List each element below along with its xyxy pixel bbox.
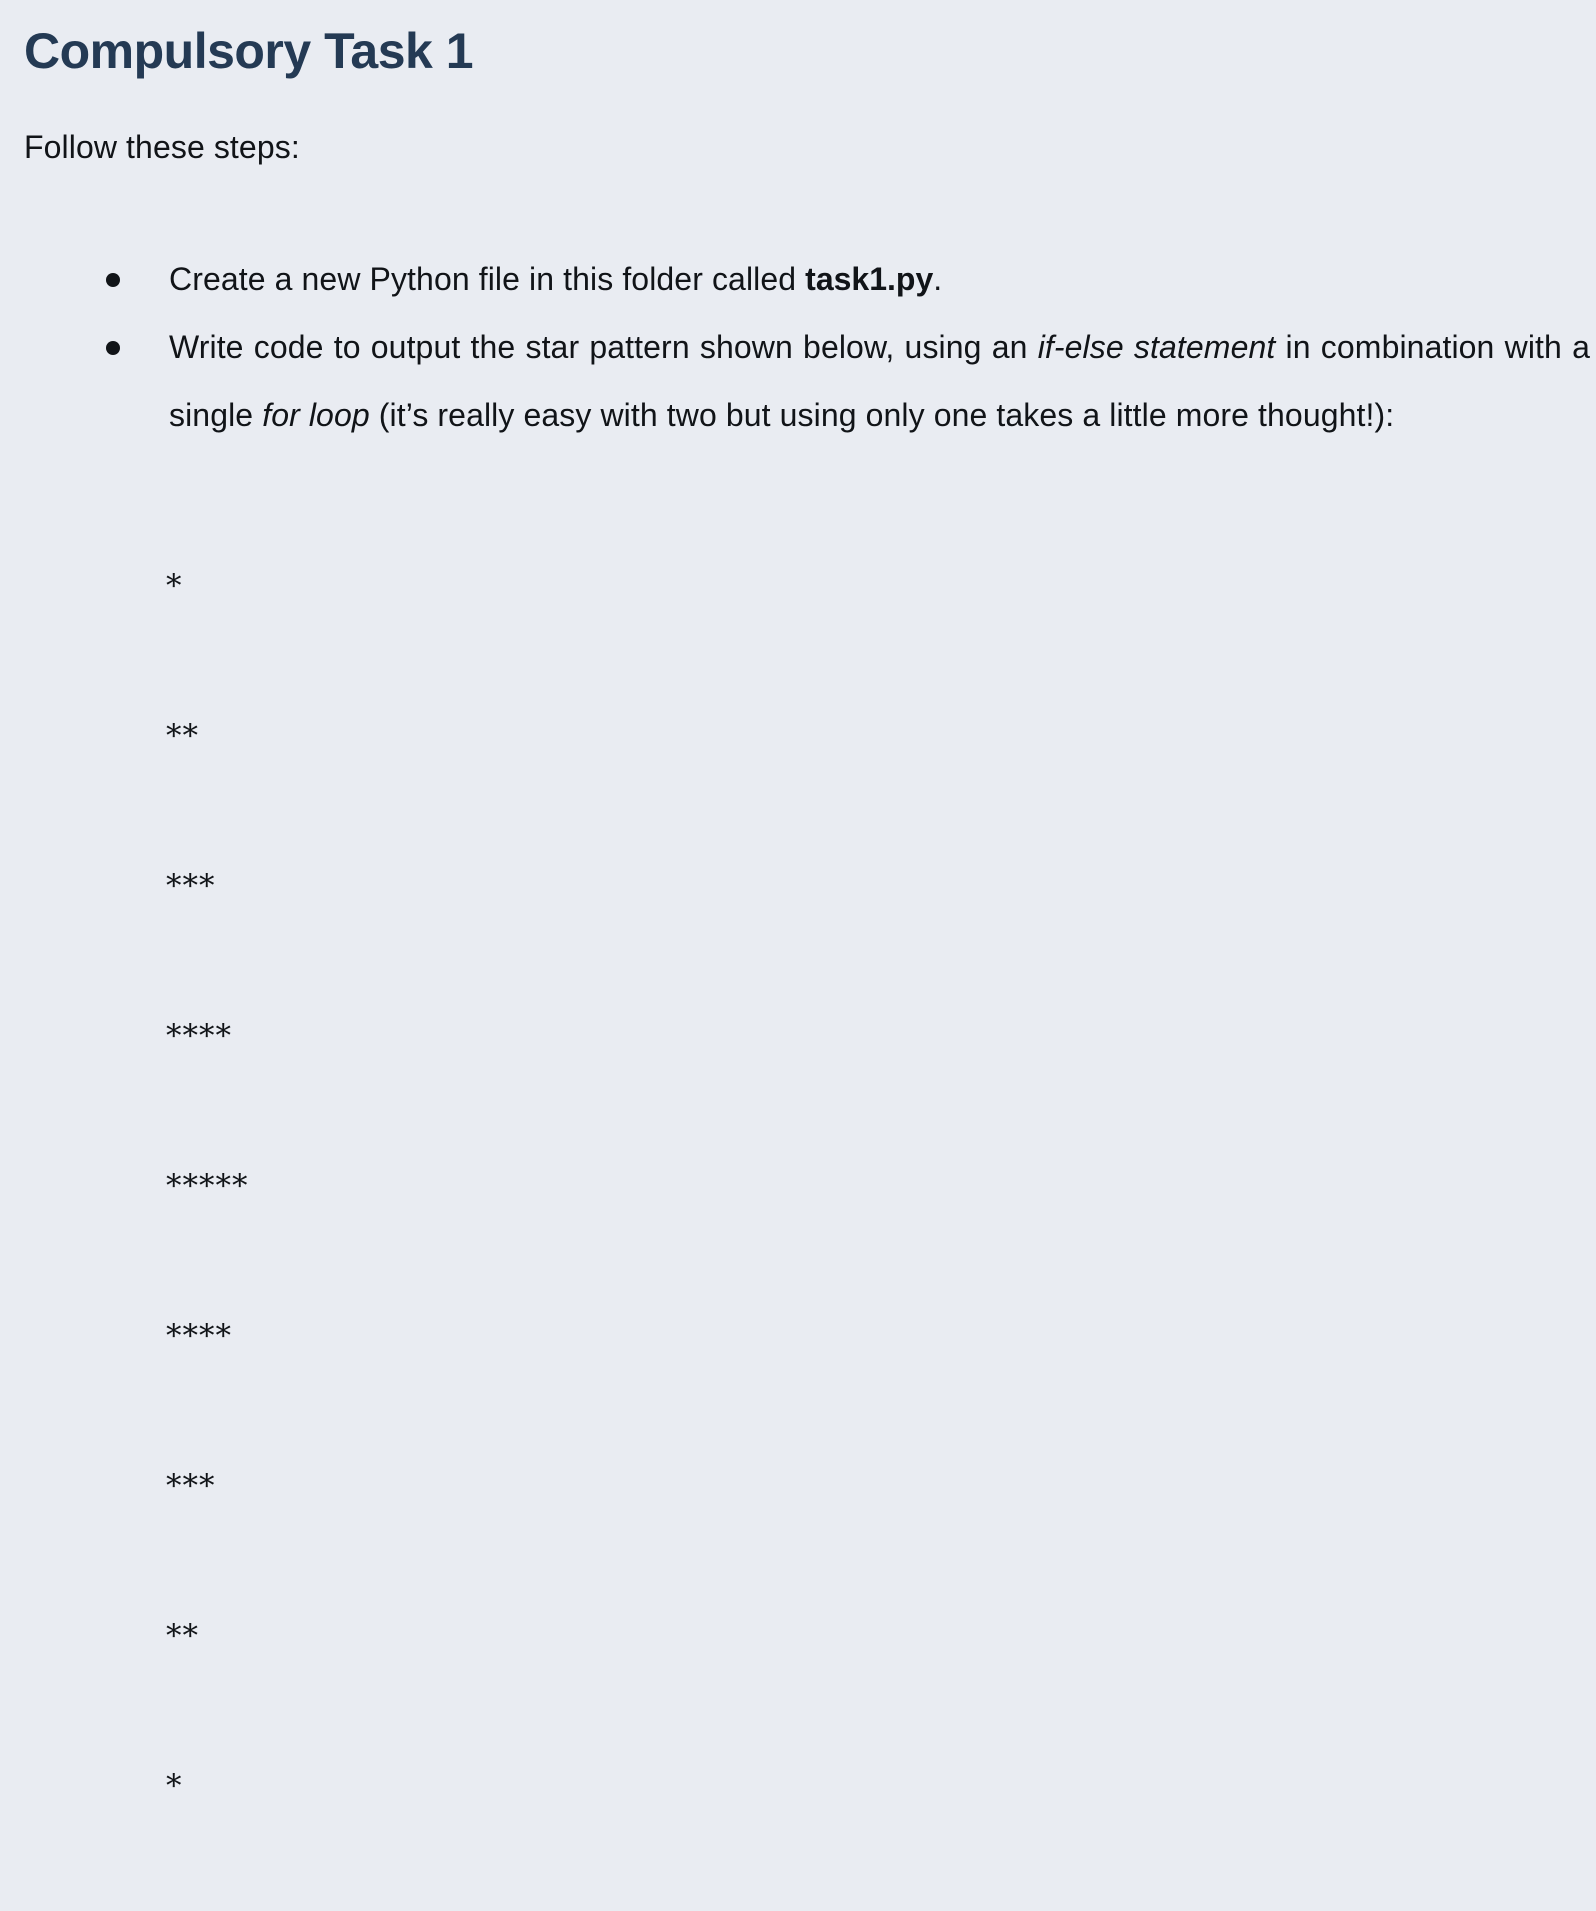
step-two-segment-1: Write code to output the star pattern sh… bbox=[169, 329, 1038, 365]
step-one-suffix: . bbox=[933, 261, 942, 297]
filename-task1-py: task1.py bbox=[805, 261, 933, 297]
list-item: Create a new Python file in this folder … bbox=[24, 245, 1590, 313]
bullet-point-icon bbox=[106, 341, 120, 355]
page-title: Compulsory Task 1 bbox=[24, 0, 1590, 83]
star-row: ** bbox=[166, 711, 1590, 761]
step-two-segment-3: (it’s really easy with two but using onl… bbox=[370, 397, 1395, 433]
star-row: **** bbox=[166, 1311, 1590, 1361]
emphasis-for-loop: for loop bbox=[262, 397, 370, 433]
intro-paragraph: Follow these steps: bbox=[24, 83, 1590, 163]
list-item: Write code to output the star pattern sh… bbox=[24, 313, 1590, 449]
star-row: **** bbox=[166, 1011, 1590, 1061]
step-one-text: Create a new Python file in this folder … bbox=[169, 245, 1590, 313]
document-page: Compulsory Task 1 Follow these steps: Cr… bbox=[0, 0, 1596, 1060]
step-one-prefix: Create a new Python file in this folder … bbox=[169, 261, 805, 297]
steps-list: Create a new Python file in this folder … bbox=[24, 163, 1590, 449]
star-row: * bbox=[166, 1761, 1590, 1811]
step-two-text: Write code to output the star pattern sh… bbox=[169, 313, 1590, 449]
bullet-point-icon bbox=[106, 273, 120, 287]
emphasis-if-else-statement: if-else statement bbox=[1038, 329, 1276, 365]
star-row: ** bbox=[166, 1611, 1590, 1661]
star-row: ***** bbox=[166, 1161, 1590, 1211]
star-row: *** bbox=[166, 1461, 1590, 1511]
star-row: * bbox=[166, 561, 1590, 611]
star-pattern-block: * ** *** **** ***** **** *** ** * bbox=[24, 449, 1590, 1911]
star-row: *** bbox=[166, 861, 1590, 911]
